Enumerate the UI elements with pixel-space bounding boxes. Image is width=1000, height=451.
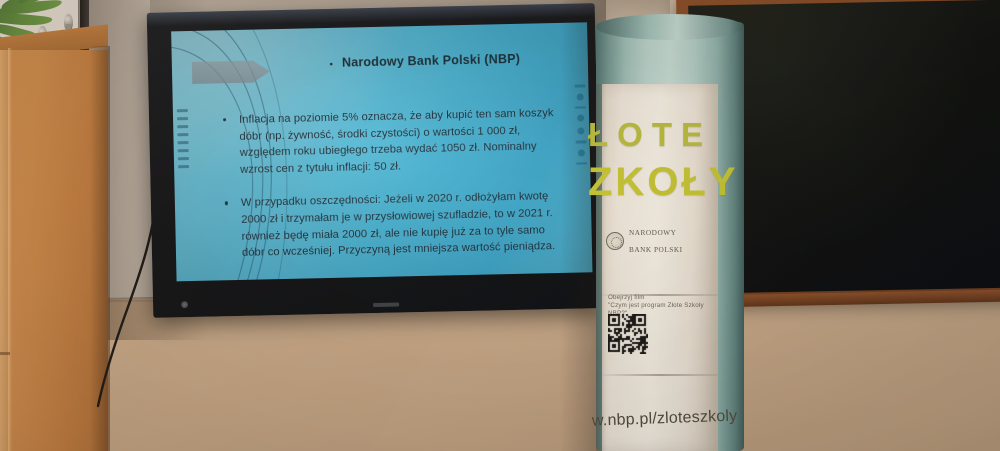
cabinet-edge-highlight <box>8 48 12 451</box>
wall-mounted-display[interactable]: •Narodowy Bank Polski (NBP) Inflacja na … <box>147 3 602 318</box>
classroom-photo-scene: •Narodowy Bank Polski (NBP) Inflacja na … <box>0 0 1000 451</box>
tv-brand-logo <box>373 302 399 307</box>
rollup-banner: ŁOTE ZKOŁY NARODOWY BANK POLSKI Obejrzyj… <box>596 22 744 451</box>
banner-seam <box>602 374 718 376</box>
banner-top-cap <box>596 14 744 40</box>
nbp-logo-text: NARODOWY BANK POLSKI <box>629 220 683 263</box>
nbp-logo-line1: NARODOWY <box>629 229 683 238</box>
tv-power-led-icon <box>181 301 188 308</box>
banner-cta-line1: Obejrzyj film <box>608 294 704 302</box>
nbp-logo-line2: BANK POLSKI <box>629 246 683 255</box>
cabinet-left-panel <box>0 50 8 451</box>
presentation-slide: •Narodowy Bank Polski (NBP) Inflacja na … <box>171 22 592 281</box>
screen-vignette <box>171 22 592 281</box>
nbp-logo: NARODOWY BANK POLSKI <box>606 220 683 263</box>
nbp-eagle-seal-icon <box>606 232 624 250</box>
banner-headline-line2: ZKOŁY <box>588 162 739 202</box>
banner-headline-line1: ŁOTE <box>588 118 712 151</box>
banner-side-markings <box>720 198 738 256</box>
cabinet-door-seam <box>0 352 10 355</box>
qr-code-icon[interactable] <box>608 314 648 354</box>
